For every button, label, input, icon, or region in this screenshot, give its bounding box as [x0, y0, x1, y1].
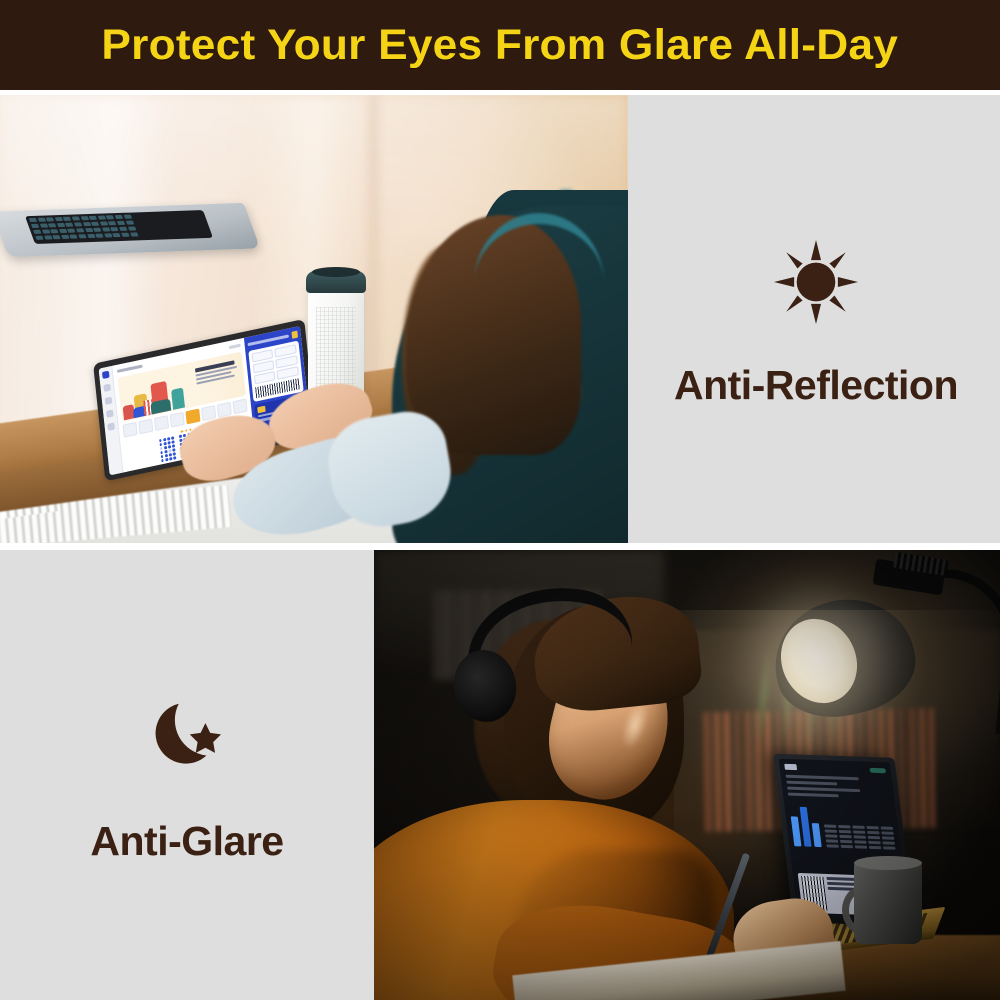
seat — [168, 449, 171, 452]
key — [95, 234, 103, 238]
grid-cell — [841, 845, 854, 848]
key — [42, 229, 50, 233]
key — [110, 227, 118, 231]
bar — [812, 823, 822, 847]
data-grid — [824, 824, 896, 849]
key — [57, 223, 65, 227]
grid-cell — [852, 825, 865, 828]
date-chip-selected — [185, 408, 200, 424]
window-frame — [370, 95, 377, 395]
key — [78, 234, 86, 238]
key — [119, 227, 127, 231]
grid-cell — [869, 846, 882, 849]
seat — [167, 437, 170, 440]
seat — [165, 458, 168, 461]
grid-cell — [867, 831, 880, 834]
grid-cell — [825, 829, 838, 832]
key — [113, 233, 121, 237]
tumbler-lid-top — [312, 267, 360, 277]
dashboard-stats — [786, 775, 890, 799]
sidebar-item-profile — [106, 410, 114, 418]
seat — [172, 448, 175, 451]
hero-text-block — [195, 359, 240, 386]
seat — [179, 435, 182, 438]
grid-cell — [854, 835, 867, 838]
seat — [168, 445, 171, 448]
key — [59, 229, 67, 233]
seat — [160, 447, 163, 450]
dashboard-status-badge — [869, 767, 886, 773]
key — [93, 228, 101, 232]
date-chip — [201, 405, 216, 421]
seat — [171, 436, 174, 439]
stat-line — [786, 775, 859, 781]
dashboard-chart — [789, 801, 896, 850]
sun-icon — [774, 240, 858, 324]
sidebar-item-home — [102, 371, 110, 379]
ticket-field — [277, 366, 299, 379]
key — [123, 215, 131, 219]
key — [89, 216, 97, 220]
key — [67, 229, 75, 233]
grid-cell — [881, 831, 894, 834]
key — [35, 236, 43, 240]
stat-line — [788, 793, 839, 798]
key — [85, 228, 93, 232]
date-chip — [154, 415, 169, 431]
grid-cell — [854, 840, 867, 843]
bar — [800, 807, 812, 847]
seat — [169, 457, 172, 460]
key — [117, 221, 125, 225]
key — [46, 217, 54, 221]
tumbler-texture — [316, 307, 356, 392]
crescent-moon-star-icon — [141, 690, 233, 782]
date-chip — [138, 418, 153, 434]
sidebar-item-tickets — [105, 397, 113, 405]
key — [63, 217, 71, 221]
date-chip — [169, 412, 184, 428]
grid-cell — [826, 844, 839, 847]
page-title: Protect Your Eyes From Glare All-Day — [102, 21, 899, 70]
key — [80, 216, 88, 220]
seat — [159, 439, 162, 442]
key — [97, 216, 105, 220]
header-banner: Protect Your Eyes From Glare All-Day — [0, 0, 1000, 90]
seat — [172, 444, 175, 447]
date-chip — [122, 422, 137, 438]
stat-line — [786, 781, 837, 786]
seat-gap — [176, 439, 179, 442]
key — [115, 215, 123, 219]
ticket-card — [248, 341, 304, 402]
grid-cell — [824, 824, 837, 827]
app-topbar-action — [229, 344, 241, 349]
key — [87, 234, 95, 238]
key — [65, 223, 73, 227]
row-divider — [0, 543, 1000, 550]
grid-cell — [882, 836, 895, 839]
key — [48, 223, 56, 227]
key — [50, 229, 58, 233]
ticket-field — [254, 371, 276, 384]
seat — [164, 450, 167, 453]
bar — [791, 816, 802, 846]
dashboard-header — [784, 764, 886, 773]
feature-anti-reflection: Anti-Reflection — [632, 240, 1000, 409]
sidebar-item-settings — [107, 422, 115, 430]
grid-cell — [853, 830, 866, 833]
grid-cell — [868, 836, 881, 839]
key — [76, 228, 84, 232]
feature-label-anti-reflection: Anti-Reflection — [674, 362, 958, 409]
grid-cell — [839, 835, 852, 838]
stat-line — [787, 787, 860, 793]
key — [130, 232, 138, 236]
grid-cell — [882, 841, 895, 844]
nighttime-study-photo — [374, 550, 1000, 1000]
feature-label-anti-glare: Anti-Glare — [90, 818, 283, 865]
card-chip-icon — [257, 406, 265, 414]
seat — [161, 455, 164, 458]
grid-cell — [883, 846, 896, 849]
key — [37, 218, 45, 222]
hero-figure-5 — [171, 387, 185, 409]
mug-rim — [854, 856, 922, 870]
key — [128, 226, 136, 230]
key — [82, 222, 90, 226]
key — [70, 234, 78, 238]
seat — [164, 446, 167, 449]
key — [121, 233, 129, 237]
key — [31, 224, 39, 228]
seat — [168, 441, 171, 444]
bar-chart — [789, 801, 822, 848]
grid-cell — [839, 830, 852, 833]
ticket-panel-badge — [291, 331, 298, 339]
grid-cell — [838, 825, 851, 828]
key — [104, 233, 112, 237]
sidebar-item-movies — [103, 384, 111, 392]
key — [102, 227, 110, 231]
seat-gap — [175, 435, 178, 438]
dashboard-logo — [784, 764, 797, 770]
grid-cell — [866, 826, 879, 829]
key — [52, 235, 60, 239]
seat — [172, 440, 175, 443]
key — [106, 215, 114, 219]
key — [91, 222, 99, 226]
grid-cell — [825, 834, 838, 837]
grid-cell — [855, 845, 868, 848]
key — [33, 230, 41, 234]
seat — [181, 430, 184, 433]
key — [74, 222, 82, 226]
seat — [169, 453, 172, 456]
breadcrumb-text — [117, 365, 143, 373]
seat — [185, 429, 188, 432]
key — [55, 217, 63, 221]
coffee-mug — [854, 862, 922, 944]
product-banner-page: Protect Your Eyes From Glare All-Day — [0, 0, 1000, 1000]
grid-cell — [826, 839, 839, 842]
key — [100, 221, 108, 225]
daytime-laptop-photo — [0, 95, 628, 543]
seat — [164, 442, 167, 445]
key — [61, 235, 69, 239]
seat-gap — [176, 444, 179, 447]
seat — [165, 454, 168, 457]
grid-cell — [840, 840, 853, 843]
seat — [160, 451, 163, 454]
grid-cell — [868, 841, 881, 844]
seat — [160, 443, 163, 446]
key — [29, 218, 37, 222]
seat — [173, 457, 176, 460]
seat — [161, 459, 164, 462]
key — [125, 221, 133, 225]
date-chip — [232, 398, 247, 414]
key — [108, 221, 116, 225]
key — [44, 235, 52, 239]
seat-gap — [177, 456, 180, 459]
key — [72, 216, 80, 220]
seat — [163, 438, 166, 441]
seat — [173, 453, 176, 456]
grid-cell — [881, 826, 894, 829]
feature-anti-glare: Anti-Glare — [0, 690, 374, 865]
key — [39, 224, 47, 228]
